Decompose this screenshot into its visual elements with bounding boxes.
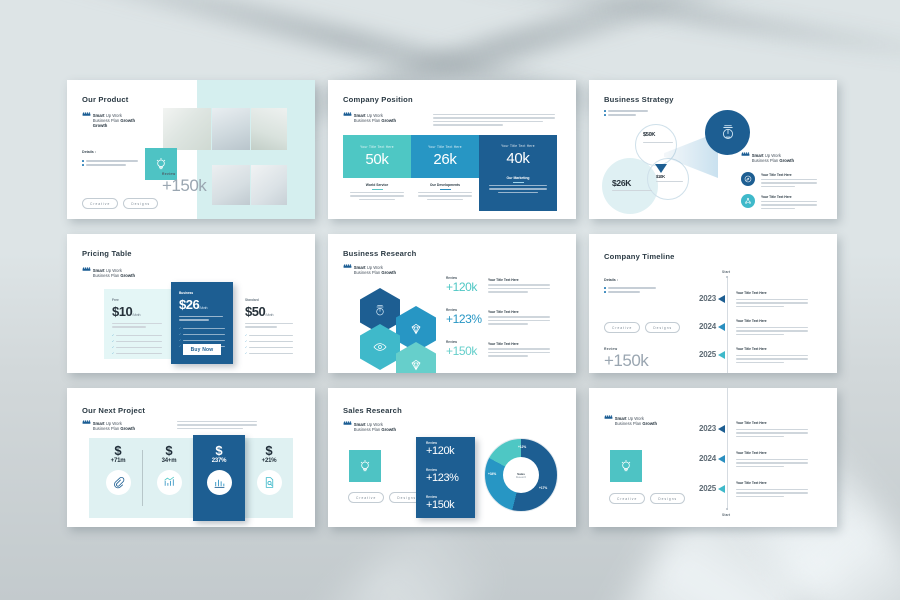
metric-column: $ +71m (94, 444, 142, 495)
slide-business-research[interactable]: Business Research ❝❝ Smart Up Work Busin… (328, 234, 576, 373)
value-bubble-ring (647, 158, 689, 200)
bullet-item (604, 291, 656, 293)
brand-text: Smart Up Work Business Plan Growth (615, 416, 657, 426)
timeline-year: 2024 (699, 322, 716, 331)
tag-creative[interactable]: Creative (348, 492, 384, 503)
metric-text: Your Title Text Here (488, 278, 550, 293)
bubble-caption (612, 190, 652, 191)
timeline-heading: Your Title Text Here (736, 421, 767, 425)
product-photo (251, 165, 287, 205)
tag-designs[interactable]: Designs (123, 198, 158, 209)
timeline-heading: Your Title Text Here (736, 291, 767, 295)
details-label: Details : (82, 150, 96, 154)
slide-company-timeline[interactable]: Company Timeline Details : Creative Desi… (589, 234, 837, 373)
review-metric: Review +150k (162, 172, 206, 196)
tag-row: Creative Designs (609, 493, 685, 504)
timeline-axis (727, 276, 728, 373)
stat-card: Your Title Text Here 50k (343, 135, 411, 178)
timeline-heading: Your Title Text Here (736, 451, 767, 455)
lightbulb-idea-icon (610, 450, 642, 482)
price-card-standard[interactable]: Standard $50/ Month ✓ ✓ ✓ ✓ (239, 289, 305, 359)
tag-creative[interactable]: Creative (609, 493, 645, 504)
quote-icon: ❝❝ (741, 153, 749, 160)
timeline-heading: Your Title Text Here (736, 481, 767, 485)
value-label: $50K (643, 132, 655, 138)
metric-text: Your Title Text Here (488, 342, 550, 357)
brand-lockup: ❝❝ Smart Up Work Business Plan Growth (82, 268, 135, 278)
tag-row: Creative Designs (82, 198, 158, 209)
metric-text: Your Title Text Here (488, 310, 550, 325)
brand-lockup: ❝❝ Smart Up Work Business Plan Growth (82, 421, 135, 431)
timeline-year: 2025 (699, 484, 716, 493)
timeline-arrow (718, 455, 725, 463)
quote-icon: ❝❝ (604, 416, 612, 423)
timeline-dot (726, 508, 728, 510)
brand-lockup: ❝❝ Smart Up Work Business Plan Growth (604, 416, 657, 426)
donut-slice-label: +17% (539, 486, 547, 490)
bullet-list (604, 287, 656, 293)
slide-business-strategy[interactable]: Business Strategy $26K $50K $10K ❝❝ Smar… (589, 80, 837, 219)
metric-column: $ 34+m (145, 444, 193, 495)
bullet-item (604, 287, 656, 289)
timeline-year: 2023 (699, 424, 716, 433)
list-heading: Your Title Text Here (761, 173, 792, 177)
timeline-arrow (718, 425, 725, 433)
donut-center-label: Sales Research (505, 459, 537, 491)
brand-text: Smart Up Work Business Plan Growth (93, 268, 135, 278)
timeline-body (736, 327, 808, 335)
slide-timeline-alt[interactable]: ❝❝ Smart Up Work Business Plan Growth Cr… (589, 388, 837, 527)
metric-block: Review +120k (426, 441, 454, 457)
eye-idea-icon (360, 324, 400, 370)
tag-row: Creative Designs (604, 322, 680, 333)
paperclip-icon (106, 470, 131, 495)
timeline-year: 2025 (699, 350, 716, 359)
slide-our-product[interactable]: Our Product ❝❝ Smart Up Work Business Pl… (67, 80, 315, 219)
tag-creative[interactable]: Creative (82, 198, 118, 209)
bubble-caption (656, 181, 683, 182)
brand-lockup: ❝❝ Smart Up Work Business Plan Growth (343, 265, 396, 275)
bullet-list (604, 110, 648, 116)
price-card-free[interactable]: Free $10/ Month ✓ ✓ ✓ ✓ (104, 289, 172, 359)
page-title: Pricing Table (82, 249, 132, 258)
stat-description: Our Developments (411, 183, 479, 200)
product-photo (163, 108, 211, 150)
page-title: Company Timeline (604, 252, 675, 261)
donut-slice-label: +34% (488, 472, 496, 476)
brand-text: Smart Up Work Business Plan Growth (93, 421, 135, 431)
bullet-item (604, 114, 648, 116)
timeline-arrow (718, 323, 725, 331)
column-divider (142, 450, 143, 506)
page-title: Our Next Project (82, 406, 145, 415)
quote-icon: ❝❝ (343, 422, 351, 429)
timeline-heading: Your Title Text Here (736, 319, 767, 323)
page-title: Business Research (343, 249, 416, 258)
metric-column-featured: $ 237% (195, 444, 243, 495)
list-body (761, 179, 817, 187)
timeline-arrow (718, 295, 725, 303)
brand-text: Smart Up Work Business Plan Growth (752, 153, 794, 163)
slide-sales-research[interactable]: Sales Research ❝❝ Smart Up Work Business… (328, 388, 576, 527)
metric-block: Review +150k (446, 340, 477, 358)
list-heading: Your Title Text Here (761, 195, 792, 199)
slide-our-next-project[interactable]: Our Next Project ❝❝ Smart Up Work Busine… (67, 388, 315, 527)
intro-paragraph (177, 421, 257, 429)
quote-icon: ❝❝ (82, 113, 90, 120)
brand-lockup: ❝❝ Smart Up Work Business Plan Growth (343, 113, 396, 123)
page-title: Business Strategy (604, 95, 674, 104)
brand-lockup: ❝❝ Smart Up Work Business Plan Growth (741, 153, 794, 163)
tag-row: Creative Designs (348, 492, 424, 503)
tag-creative[interactable]: Creative (604, 322, 640, 333)
slide-company-position[interactable]: Company Position ❝❝ Smart Up Work Busine… (328, 80, 576, 219)
page-title: Company Position (343, 95, 413, 104)
bar-chart-icon (207, 470, 232, 495)
lightbulb-idea-icon (349, 450, 381, 482)
timeline-arrow (718, 485, 725, 493)
list-body (761, 201, 817, 209)
review-metric: Review +150k (604, 347, 648, 371)
page-title: Sales Research (343, 406, 402, 415)
compass-icon (741, 172, 755, 186)
network-icon (741, 194, 755, 208)
brand-text: Smart Up Work Business Plan Growth (354, 422, 396, 432)
brand-text: Smart Up Work Business Plan Growth (354, 265, 396, 275)
quote-icon: ❝❝ (82, 268, 90, 275)
stat-description: World Service (343, 183, 411, 200)
brand-text: Smart Up Work Business Plan Growth Growt… (93, 113, 135, 129)
timeline-heading: Your Title Text Here (736, 347, 767, 351)
product-photo (251, 108, 287, 150)
timeline-arrow (718, 351, 725, 359)
timeline-body (736, 489, 808, 497)
timeline-year: 2024 (699, 454, 716, 463)
donut-slice-label: +12% (518, 445, 526, 449)
buy-now-button[interactable]: Buy Now (183, 344, 221, 355)
timeline-dot (726, 276, 728, 278)
details-label: Details : (604, 278, 618, 282)
metric-block: Review +150k (426, 495, 454, 511)
tag-designs[interactable]: Designs (645, 322, 680, 333)
brand-lockup: ❝❝ Smart Up Work Business Plan Growth (343, 422, 396, 432)
timeline-start-label: Start (722, 270, 730, 274)
timeline-start-label: Start (722, 513, 730, 517)
timeline-year: 2023 (699, 294, 716, 303)
quote-icon: ❝❝ (343, 113, 351, 120)
stat-card: Your Title Text Here 26k (411, 135, 479, 178)
timeline-axis (727, 388, 728, 510)
timeline-body (736, 355, 808, 363)
bullet-list (82, 160, 138, 166)
chart-growth-icon (157, 470, 182, 495)
value-label: $10K (656, 174, 665, 179)
metric-column: $ +21% (245, 444, 293, 495)
metric-block: Review +123% (426, 468, 459, 484)
diamond-icon (396, 342, 436, 373)
metric-block: Review +120k (446, 276, 477, 294)
bubble-caption (643, 142, 673, 143)
bullet-item (604, 110, 648, 112)
slide-pricing-table[interactable]: Pricing Table ❝❝ Smart Up Work Business … (67, 234, 315, 373)
metric-block: Review +123% (446, 308, 482, 326)
timeline-body (736, 459, 808, 467)
slide-grid: Our Product ❝❝ Smart Up Work Business Pl… (67, 80, 838, 527)
product-photo (212, 165, 250, 205)
timeline-body (736, 429, 808, 437)
document-search-icon (257, 470, 282, 495)
bullet-item (82, 164, 138, 166)
page-title: Our Product (82, 95, 129, 104)
pointer-triangle (655, 164, 667, 173)
target-growth-icon (705, 110, 750, 155)
bullet-item (82, 160, 138, 162)
brand-lockup: ❝❝ Smart Up Work Business Plan Growth Gr… (82, 113, 135, 129)
quote-icon: ❝❝ (82, 421, 90, 428)
stat-heading: Our Marketing (489, 176, 547, 180)
intro-paragraph (433, 114, 555, 126)
quote-icon: ❝❝ (343, 265, 351, 272)
brand-text: Smart Up Work Business Plan Growth (354, 113, 396, 123)
stat-card-featured: Your Title Text Here 40k Our Marketing (479, 135, 557, 211)
value-label: $26K (612, 178, 631, 188)
product-photo (212, 108, 250, 150)
timeline-body (736, 299, 808, 307)
tag-designs[interactable]: Designs (650, 493, 685, 504)
